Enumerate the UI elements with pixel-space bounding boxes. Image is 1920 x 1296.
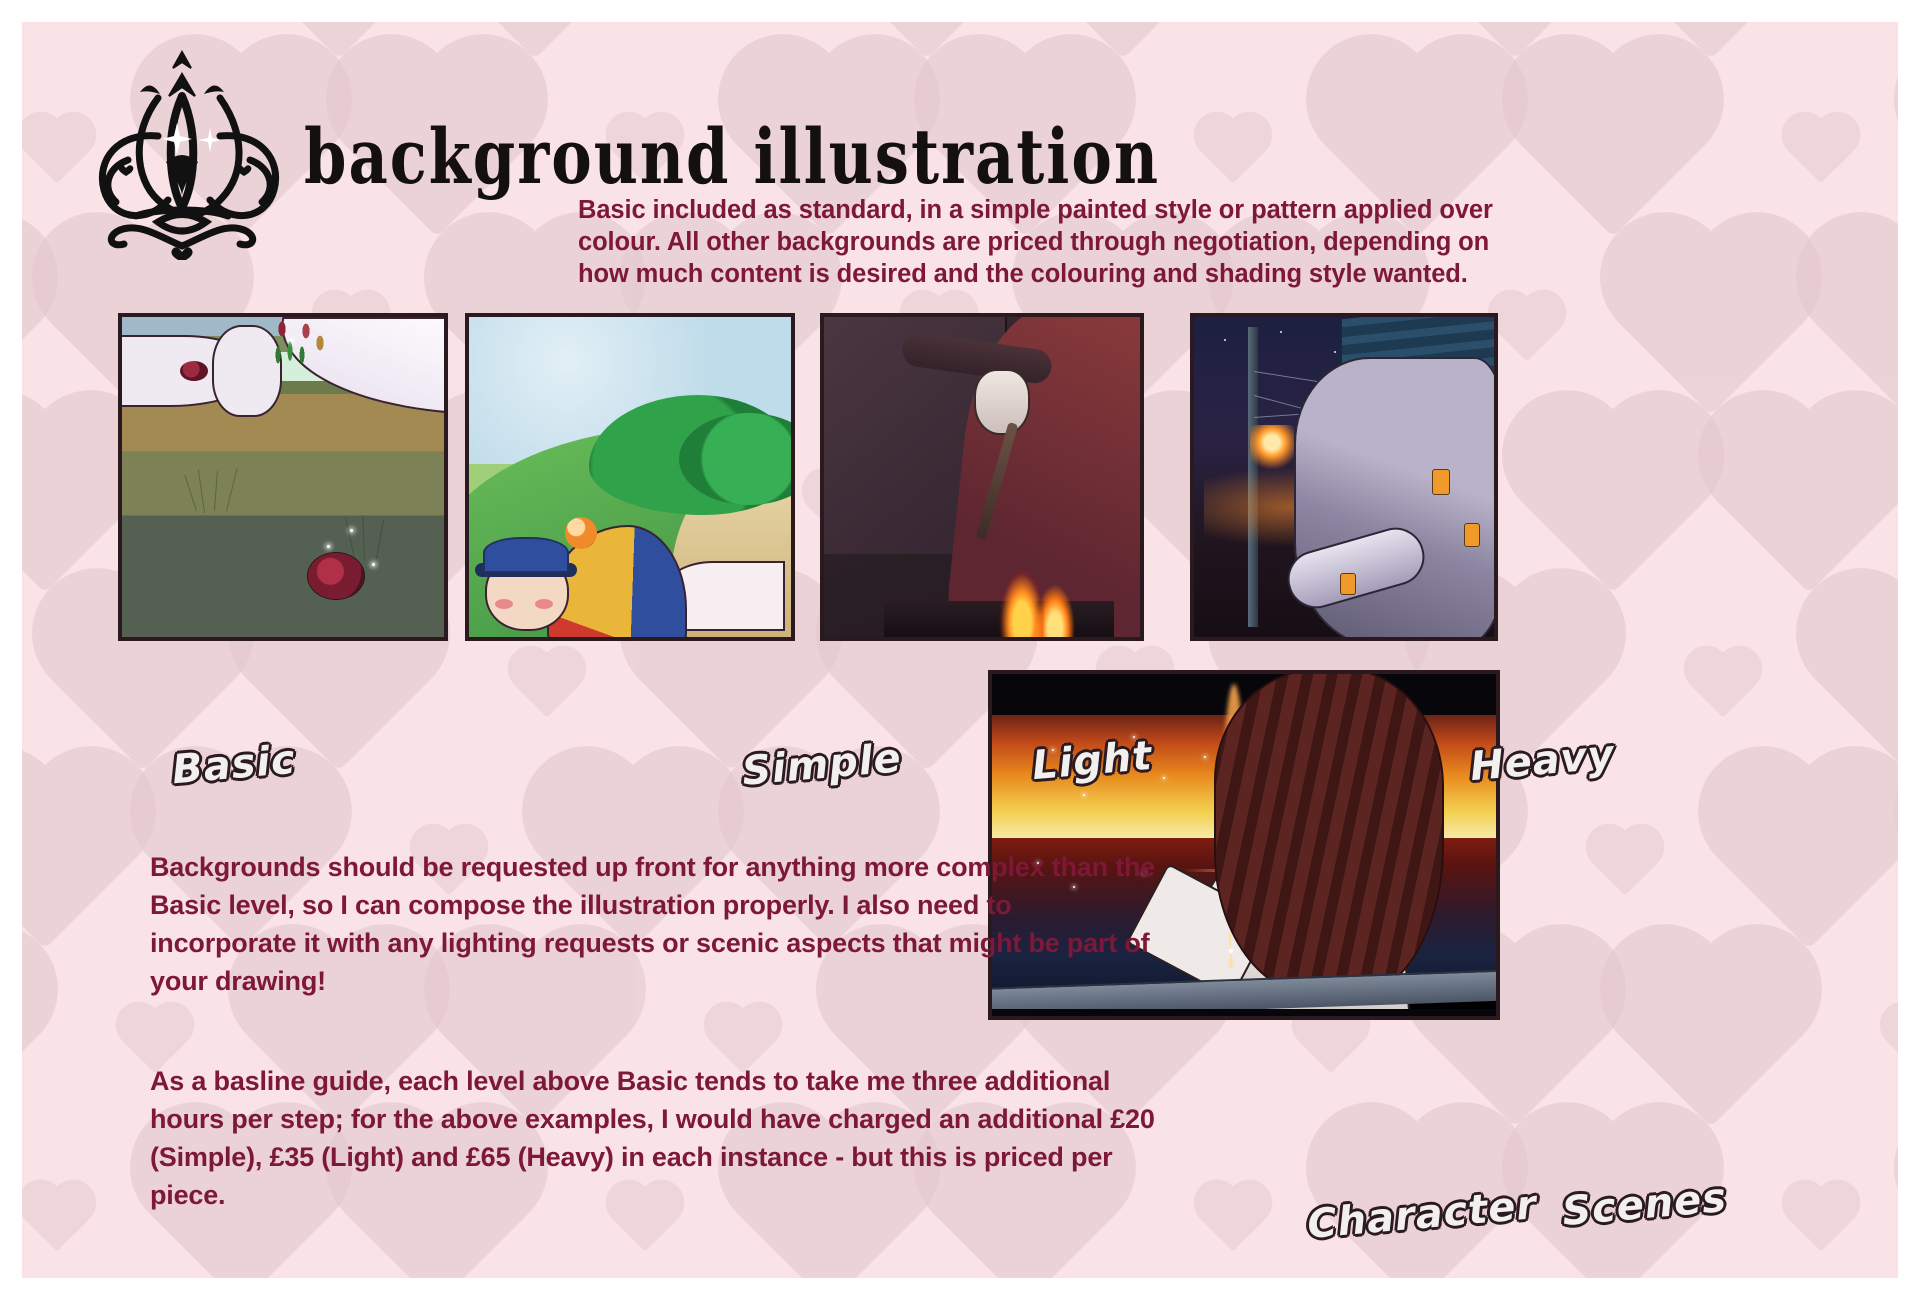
- pink-card: background illustration Basic included a…: [22, 22, 1898, 1278]
- body-paragraph-2: As a basline guide, each level above Bas…: [150, 1062, 1160, 1214]
- background-heart: [1200, 118, 1265, 183]
- background-heart: [1521, 53, 1705, 237]
- ornamental-monogram-logo: [62, 40, 302, 260]
- background-heart: [22, 22, 39, 59]
- background-heart: [1494, 296, 1559, 361]
- commission-info-sheet: background illustration Basic included a…: [0, 0, 1920, 1296]
- artwork-basic: [122, 317, 444, 637]
- background-heart: [24, 1186, 89, 1251]
- background-heart: [1717, 765, 1898, 949]
- background-heart: [1521, 409, 1705, 593]
- background-heart: [1886, 1008, 1898, 1073]
- artwork-heavy: [1194, 317, 1494, 637]
- background-heart: [1788, 1186, 1853, 1251]
- example-thumbnail-basic[interactable]: [118, 313, 448, 641]
- background-heart: [22, 765, 137, 949]
- background-heart: [1200, 1186, 1265, 1251]
- background-heart: [1592, 830, 1657, 895]
- background-heart: [1521, 1121, 1705, 1278]
- background-heart: [1325, 1121, 1509, 1278]
- example-thumbnail-simple[interactable]: [465, 313, 795, 641]
- page-title: background illustration: [304, 112, 1160, 201]
- background-heart: [1815, 231, 1898, 415]
- background-heart: [1619, 943, 1803, 1127]
- artwork-simple: [469, 317, 791, 637]
- example-thumbnail-heavy[interactable]: [1190, 313, 1498, 641]
- example-thumbnail-light[interactable]: [820, 313, 1144, 641]
- background-heart: [1788, 118, 1853, 183]
- background-heart: [1619, 231, 1803, 415]
- artwork-light: [824, 317, 1140, 637]
- background-heart: [1815, 587, 1898, 771]
- background-heart: [1690, 652, 1755, 717]
- background-heart: [22, 943, 39, 1127]
- background-heart: [1717, 409, 1898, 593]
- body-paragraph-1: Backgrounds should be requested up front…: [150, 848, 1160, 1000]
- intro-paragraph: Basic included as standard, in a simple …: [578, 194, 1498, 290]
- background-heart: [514, 652, 579, 717]
